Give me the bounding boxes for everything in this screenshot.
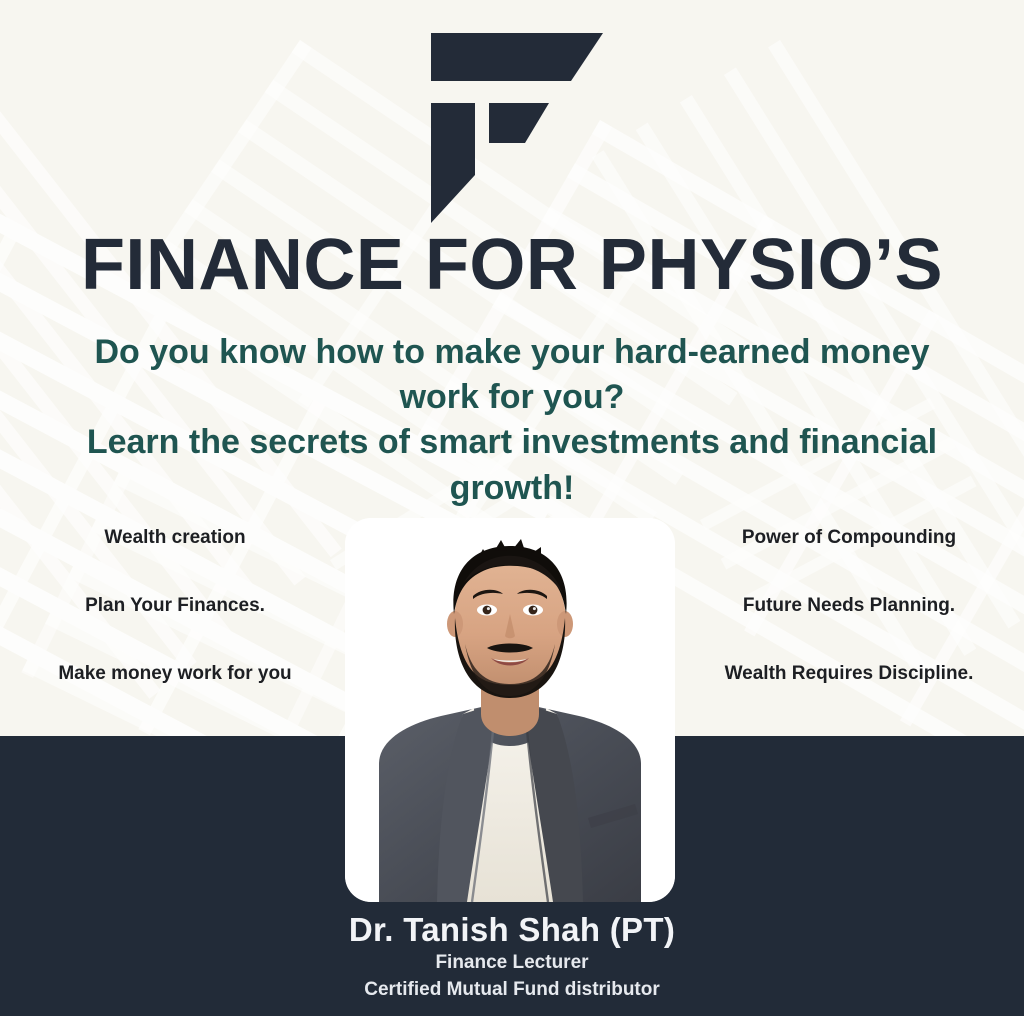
brand-logo [0, 22, 1024, 232]
feature-item: Wealth Requires Discipline. [684, 663, 1014, 731]
presenter-photo-card [345, 518, 675, 902]
feature-item: Power of Compounding [684, 527, 1014, 595]
letter-f-logo-icon [417, 27, 607, 227]
subheadline-line-4: growth! [46, 466, 978, 511]
poster-root: FINANCE FOR PHYSIO’S Do you know how to … [0, 0, 1024, 1016]
feature-column-left: Wealth creation Plan Your Finances. Make… [10, 527, 340, 731]
subheadline-block: Do you know how to make your hard-earned… [46, 330, 978, 511]
presenter-portrait-image [345, 518, 675, 902]
subheadline-line-3: Learn the secrets of smart investments a… [46, 420, 978, 465]
feature-item: Plan Your Finances. [10, 595, 340, 663]
feature-item: Make money work for you [10, 663, 340, 731]
subheadline-line-2: work for you? [46, 375, 978, 420]
feature-item: Future Needs Planning. [684, 595, 1014, 663]
page-title: FINANCE FOR PHYSIO’S [0, 229, 1024, 301]
feature-column-right: Power of Compounding Future Needs Planni… [684, 527, 1014, 731]
presenter-name: Dr. Tanish Shah (PT) [0, 912, 1024, 949]
presenter-certification: Certified Mutual Fund distributor [0, 977, 1024, 1004]
subheadline-line-1: Do you know how to make your hard-earned… [46, 330, 978, 375]
presenter-info: Dr. Tanish Shah (PT) Finance Lecturer Ce… [0, 912, 1024, 1003]
presenter-role: Finance Lecturer [0, 949, 1024, 977]
feature-item: Wealth creation [10, 527, 340, 595]
